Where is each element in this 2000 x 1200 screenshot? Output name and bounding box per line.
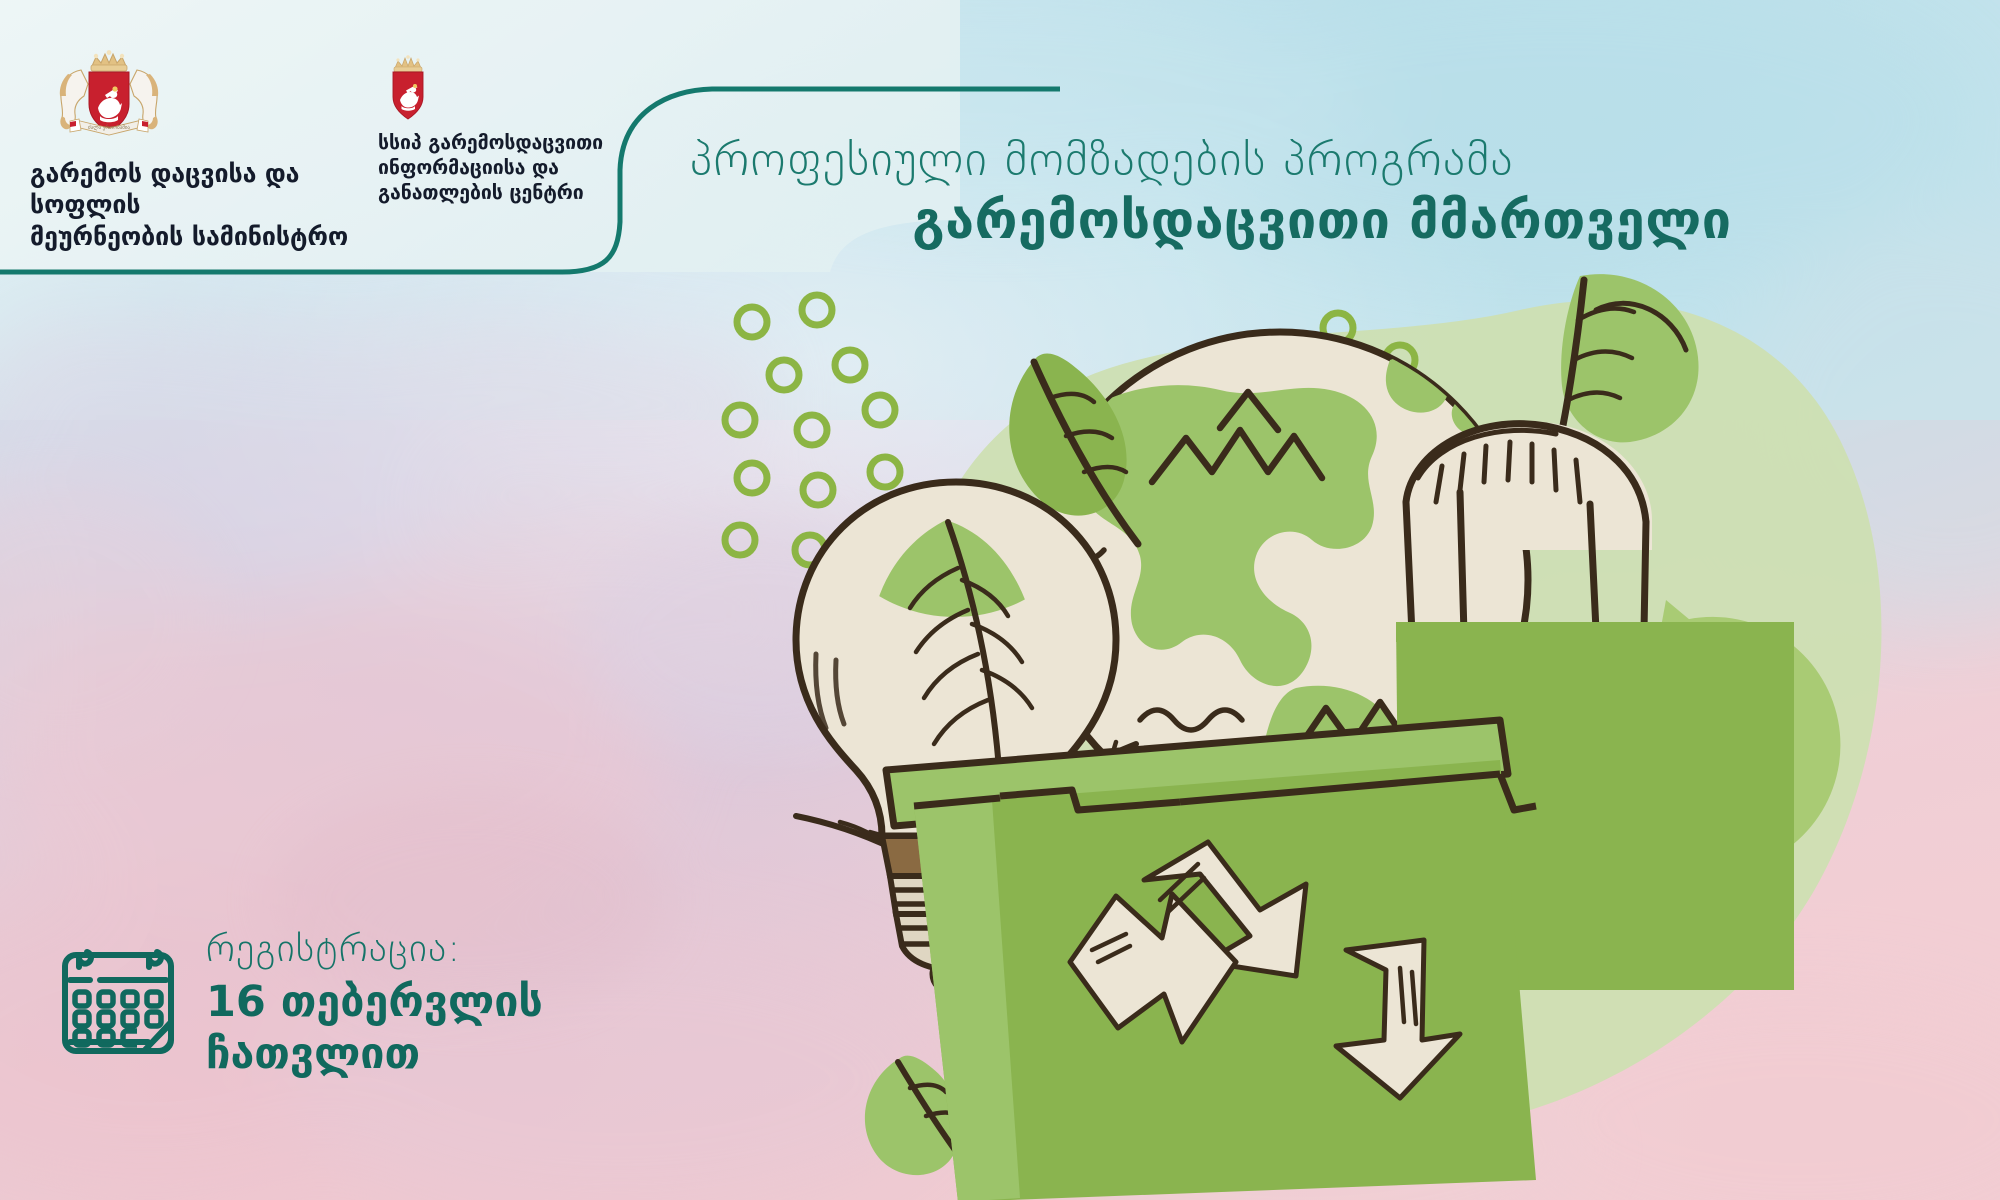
environment-illustration [700, 250, 2000, 1200]
georgia-coat-of-arms-icon: ძალა ერთობაშია [48, 48, 170, 144]
program-title: გარემოსდაცვითი მმართველი [690, 192, 1980, 250]
ministry-logo-block: ძალა ერთობაშია გარემოს დაცვისა და სოფლის… [30, 48, 360, 252]
poster-title: პროფესიული მომზადების პროგრამა გარემოსდა… [690, 135, 1980, 251]
registration-texts: რეგისტრაცია: 16 თებერვლის ჩათვლით [206, 928, 543, 1081]
center-logo-block: სსიპ გარემოსდაცვითი ინფორმაციისა და განა… [378, 55, 653, 206]
registration-date-line2: ჩათვლით [206, 1028, 543, 1080]
registration-block: რეგისტრაცია: 16 თებერვლის ჩათვლით [56, 928, 543, 1081]
calendar-icon [56, 938, 180, 1058]
ministry-logo-text: გარემოს დაცვისა და სოფლის მეურნეობის სამ… [30, 158, 360, 252]
registration-date-line1: 16 თებერვლის [206, 976, 543, 1028]
center-logo-text: სსიპ გარემოსდაცვითი ინფორმაციისა და განა… [378, 131, 653, 206]
registration-label: რეგისტრაცია: [206, 928, 543, 970]
program-subtitle: პროფესიული მომზადების პროგრამა [690, 135, 1980, 184]
georgia-shield-crest-icon [378, 55, 438, 121]
svg-text:ძალა ერთობაშია: ძალა ერთობაშია [88, 124, 130, 131]
recycling-bin [886, 720, 1536, 1200]
